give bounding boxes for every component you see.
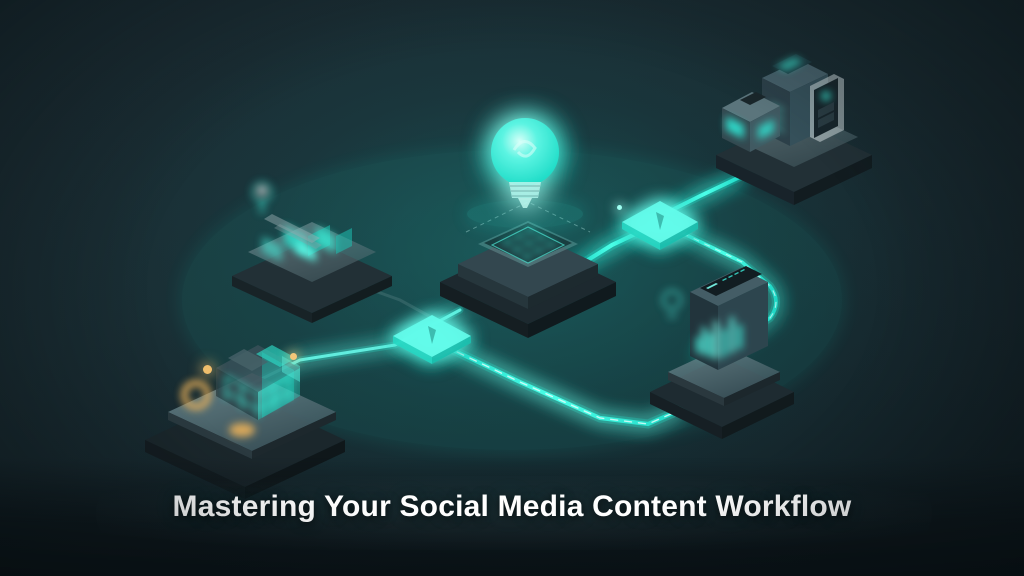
- node-publish: [716, 54, 872, 205]
- particle-cyan-1: [617, 205, 622, 210]
- particle-amber-2: [290, 353, 297, 360]
- particle-amber-1: [203, 365, 212, 374]
- mobile-device-panel: [810, 74, 844, 142]
- illustration-canvas: Mastering Your Social Media Content Work…: [0, 0, 1024, 576]
- page-title: Mastering Your Social Media Content Work…: [0, 490, 1024, 524]
